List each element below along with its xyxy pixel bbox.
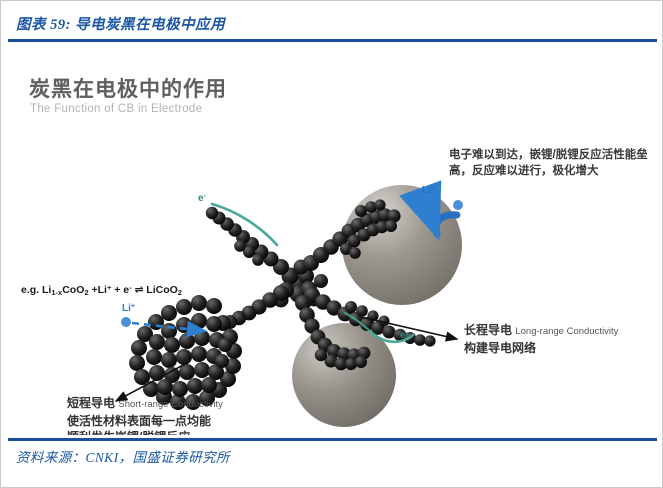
annotation-long-range-cn: 长程导电 — [464, 323, 512, 337]
carbon-black-agglomerate — [129, 295, 242, 410]
annotation-short-range-line2: 使活性材料表面每一点均能 — [67, 414, 211, 428]
annotation-long-range-en: Long-range Conductivity — [515, 326, 618, 337]
eqn-arrow: ⇌ — [135, 284, 144, 296]
ion-label-electron-right: e- — [400, 330, 408, 341]
diagram-graphics — [9, 45, 656, 435]
ion-label-electron-top: e- — [198, 193, 206, 204]
eqn-product: LiCoO2 — [146, 284, 182, 296]
figure-canvas: 炭黑在电极中的作用 The Function of CB in Electrod… — [9, 45, 656, 435]
ion-label-lithium-left: Li+ — [122, 303, 135, 314]
ion-label-lithium-top: Li+ — [422, 185, 435, 196]
lithium-ion-dot-top — [453, 200, 463, 210]
annotation-short-range-line3: 顺利发生嵌锂/脱锂反应 — [67, 430, 190, 435]
reaction-equation: e.g. Li1-xCoO2 +Li+ + e- ⇌ LiCoO2 — [21, 283, 182, 297]
page-title: 图表 59: 导电炭黑在电极中应用 — [16, 13, 225, 34]
annotation-long-range-cn2: 构建导电网络 — [464, 341, 536, 355]
lithium-ion-dot-left — [121, 317, 131, 327]
eqn-prefix: e.g. — [21, 284, 39, 296]
annotation-top-right: 电子难以到达，嵌锂/脱锂反应活性能垒高，反应难以进行，极化增大 — [449, 147, 654, 179]
divider-top — [8, 39, 657, 42]
eqn-reactant: Li1-xCoO2 +Li+ + e- — [42, 284, 132, 296]
annotation-long-range: 长程导电 Long-range Conductivity 构建导电网络 — [464, 322, 656, 356]
annotation-short-range-cn: 短程导电 — [67, 396, 115, 410]
active-particle-top-right — [342, 185, 462, 305]
annotation-short-range: 短程导电 Short-range Conductivity 使活性材料表面每一点… — [67, 395, 317, 435]
report-figure-page: 图表 59: 导电炭黑在电极中应用 炭黑在电极中的作用 The Function… — [0, 0, 663, 488]
source-note: 资料来源：CNKI，国盛证券研究所 — [16, 446, 230, 466]
annotation-short-range-en: Short-range Conductivity — [118, 399, 223, 410]
divider-bottom — [8, 438, 657, 441]
